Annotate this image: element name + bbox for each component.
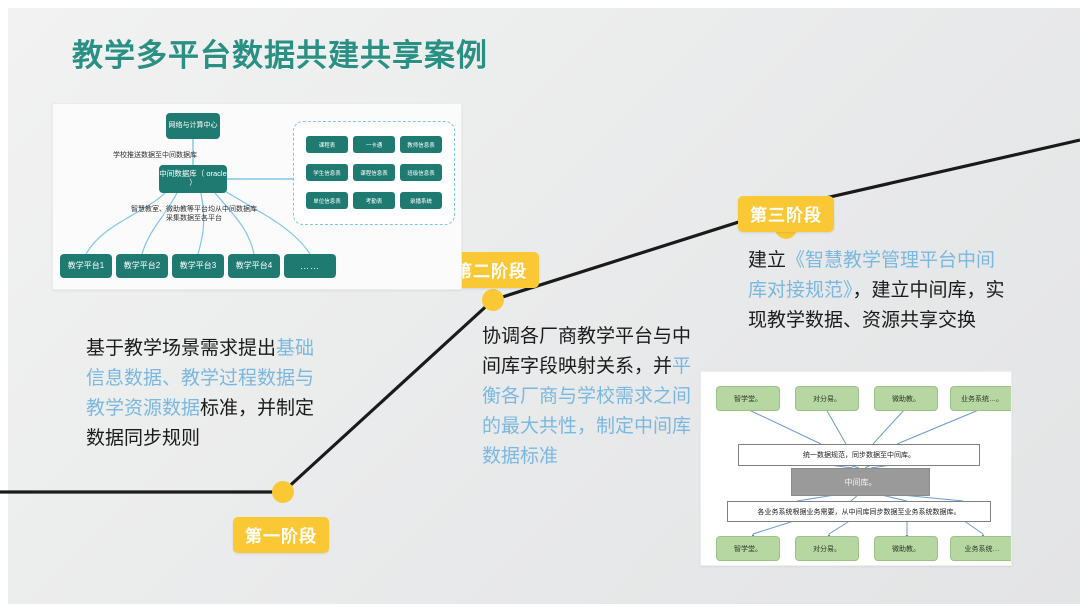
diagram-2-system-bottom-1: 智学堂。: [716, 536, 780, 561]
diagram-2-system-bottom-3: 微助教。: [874, 536, 938, 561]
diagram-middleware-sync: 智学堂。 对分易。 微助教。 业务系统…。 统一数据规范，同步数据至中间库。 中…: [700, 371, 1012, 566]
timeline-node-1: [272, 481, 294, 503]
diagram-1-table-3: 教师信息表: [400, 136, 442, 153]
diagram-1-platform-4: 教学平台4: [228, 254, 280, 278]
diagram-1-table-9: 录播系统: [400, 192, 442, 209]
stage-2-text-part1: 协调各厂商教学平台与中间库字段映射关系，并: [482, 326, 691, 377]
diagram-1-table-5: 课程信息表: [353, 164, 395, 181]
slide-edge-bottom: [0, 604, 1080, 612]
diagram-1-table-8: 考勤表: [353, 192, 395, 209]
diagram-2-system-bottom-4: 业务系统…: [950, 536, 1012, 561]
diagram-1-middle-database: 中间数据库（ oracle ）: [159, 165, 227, 193]
diagram-2-note-bottom: 各业务系统根据业务需要，从中间库同步数据至业务系统数据库。: [727, 501, 991, 522]
diagram-1-table-4: 学生信息表: [306, 164, 348, 181]
diagram-data-middleware: 网络与计算中心 学校推送数据至中间数据库 中间数据库（ oracle ） 智慧教…: [52, 103, 462, 290]
slide-edge-left: [0, 0, 8, 612]
timeline-node-2: [482, 289, 504, 311]
stage-3-text-part1: 建立: [748, 250, 786, 271]
page-title: 教学多平台数据共建共享案例: [72, 30, 488, 75]
slide-canvas: 教学多平台数据共建共享案例 第一阶段 第二阶段 第三阶段 基于教学场景需求提出基…: [0, 0, 1080, 612]
diagram-2-system-top-2: 对分易。: [795, 386, 859, 411]
slide-edge-top: [0, 0, 1080, 8]
diagram-1-table-1: 课程表: [306, 136, 348, 153]
diagram-2-note-top: 统一数据规范，同步数据至中间库。: [738, 444, 980, 466]
diagram-1-platform-1: 教学平台1: [60, 254, 112, 278]
diagram-2-system-top-3: 微助教。: [874, 386, 938, 411]
stage-badge-3[interactable]: 第三阶段: [738, 196, 834, 232]
stage-badge-1[interactable]: 第一阶段: [233, 517, 329, 553]
diagram-2-system-bottom-2: 对分易。: [795, 536, 859, 561]
diagram-1-table-6: 班级信息表: [400, 164, 442, 181]
stage-1-text-part1: 基于教学场景需求提出: [86, 338, 276, 359]
diagram-2-system-top-4: 业务系统…。: [950, 386, 1012, 411]
stage-2-description: 协调各厂商教学平台与中间库字段映射关系，并平衡各厂商与学校需求之间的最大共性，制…: [482, 322, 692, 472]
diagram-1-caption-bottom: 智慧教室、微助教等平台均从中间数据库采集数据至各平台: [129, 205, 259, 224]
stage-3-description: 建立《智慧教学管理平台中间库对接规范》，建立中间库，实现教学数据、资源共享交换: [748, 246, 1010, 336]
diagram-1-platform-2: 教学平台2: [116, 254, 168, 278]
diagram-1-platform-more: ……: [284, 254, 336, 278]
diagram-1-table-7: 单位信息表: [306, 192, 348, 209]
diagram-1-table-2: 一卡通: [353, 136, 395, 153]
diagram-1-network-center: 网络与计算中心: [166, 113, 220, 139]
stage-1-description: 基于教学场景需求提出基础信息数据、教学过程数据与教学资源数据标准，并制定数据同步…: [86, 334, 318, 454]
diagram-2-core-middleware: 中间库。: [791, 468, 930, 496]
diagram-1-tables-panel: 课程表 一卡通 教师信息表 学生信息表 课程信息表 班级信息表 单位信息表 考勤…: [293, 121, 455, 225]
diagram-2-system-top-1: 智学堂。: [716, 386, 780, 411]
diagram-1-caption-top: 学校推送数据至中间数据库: [113, 151, 197, 160]
diagram-1-platform-3: 教学平台3: [172, 254, 224, 278]
